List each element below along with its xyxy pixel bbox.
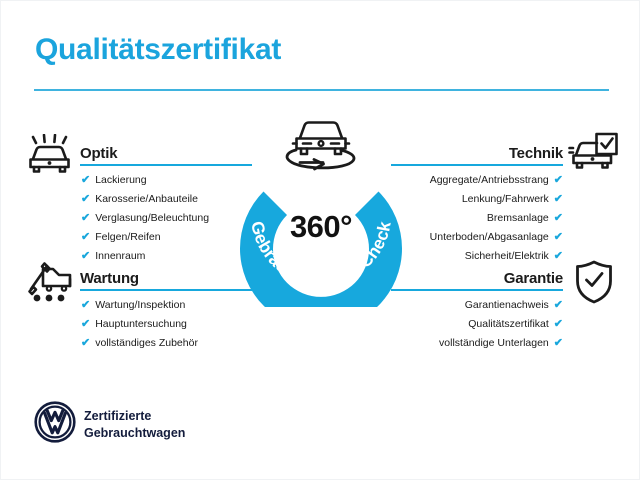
list-item: Lenkung/Fahrwerk ✔ [391, 194, 563, 205]
section-divider [80, 289, 252, 291]
list-item-label: Lenkung/Fahrwerk [462, 194, 549, 205]
volkswagen-logo [34, 401, 76, 443]
list-item-label: Innenraum [95, 251, 145, 262]
list-item-label: Aggregate/Antriebsstrang [430, 175, 549, 186]
check-icon: ✔ [81, 300, 90, 311]
section-head: Technik [391, 140, 563, 166]
checklist-optik: ✔ Lackierung ✔ Karosserie/Anbauteile ✔ V… [80, 175, 252, 262]
check-icon: ✔ [554, 319, 563, 330]
check-icon: ✔ [81, 213, 90, 224]
section-title-technik: Technik [509, 145, 563, 162]
checklist-garantie: Garantienachweis ✔ Qualitätszertifikat ✔… [391, 300, 563, 349]
section-head: Wartung [80, 265, 252, 291]
check-icon: ✔ [554, 194, 563, 205]
check-icon: ✔ [81, 338, 90, 349]
list-item-label: Unterboden/Abgasanlage [430, 232, 549, 243]
list-item: ✔ Wartung/Inspektion [81, 300, 252, 311]
gebrauchtwagen-check-badge: Gebrauchtwagen-Check 360° [229, 157, 413, 307]
title-divider [34, 89, 609, 91]
list-item: ✔ Felgen/Reifen [81, 232, 252, 243]
list-item: Aggregate/Antriebsstrang ✔ [391, 175, 563, 186]
check-icon: ✔ [81, 319, 90, 330]
list-item: ✔ vollständiges Zubehör [81, 338, 252, 349]
list-item: ✔ Lackierung [81, 175, 252, 186]
badge-center-label: 360° [229, 209, 413, 245]
check-icon: ✔ [81, 194, 90, 205]
section-head: Optik [80, 140, 252, 166]
page-title: Qualitätszertifikat [35, 33, 281, 67]
car-polish-icon [25, 134, 75, 181]
check-icon: ✔ [554, 232, 563, 243]
shield-check-icon [573, 259, 615, 310]
section-divider [391, 164, 563, 166]
section-title-wartung: Wartung [80, 270, 139, 287]
list-item: Qualitätszertifikat ✔ [391, 319, 563, 330]
section-head: Garantie [391, 265, 563, 291]
list-item-label: Karosserie/Anbauteile [95, 194, 198, 205]
car-rotate-icon [278, 114, 364, 176]
brand-line-2: Gebrauchtwagen [84, 425, 185, 442]
checklist-technik: Aggregate/Antriebsstrang ✔ Lenkung/Fahrw… [391, 175, 563, 262]
check-icon: ✔ [554, 213, 563, 224]
list-item: Garantienachweis ✔ [391, 300, 563, 311]
list-item: Sicherheit/Elektrik ✔ [391, 251, 563, 262]
brand-line-1: Zertifizierte [84, 408, 185, 425]
check-icon: ✔ [554, 338, 563, 349]
section-garantie: Garantie Garantienachweis ✔ Qualitätszer… [391, 265, 563, 357]
section-optik: Optik ✔ Lackierung ✔ Karosserie/Anbautei… [80, 140, 252, 270]
list-item: ✔ Innenraum [81, 251, 252, 262]
check-icon: ✔ [554, 300, 563, 311]
check-icon: ✔ [81, 175, 90, 186]
certificate-page: Qualitätszertifikat Optik [0, 0, 640, 480]
brand-text: Zertifizierte Gebrauchtwagen [84, 408, 185, 442]
list-item: ✔ Karosserie/Anbauteile [81, 194, 252, 205]
car-checkbox-icon [567, 131, 619, 180]
list-item-label: Felgen/Reifen [95, 232, 160, 243]
section-title-garantie: Garantie [504, 270, 563, 287]
section-divider [80, 164, 252, 166]
list-item: ✔ Hauptuntersuchung [81, 319, 252, 330]
check-icon: ✔ [554, 251, 563, 262]
section-title-optik: Optik [80, 145, 117, 162]
list-item-label: Bremsanlage [487, 213, 549, 224]
list-item-label: Sicherheit/Elektrik [465, 251, 549, 262]
list-item-label: Verglasung/Beleuchtung [95, 213, 209, 224]
checklist-wartung: ✔ Wartung/Inspektion ✔ Hauptuntersuchung… [80, 300, 252, 349]
list-item-label: vollständiges Zubehör [95, 338, 198, 349]
list-item: vollständige Unterlagen ✔ [391, 338, 563, 349]
list-item-label: Hauptuntersuchung [95, 319, 187, 330]
list-item-label: vollständige Unterlagen [439, 338, 549, 349]
section-technik: Technik Aggregate/Antriebsstrang ✔ Lenku… [391, 140, 563, 270]
car-service-tool-icon [25, 258, 75, 309]
list-item-label: Wartung/Inspektion [95, 300, 185, 311]
check-icon: ✔ [81, 232, 90, 243]
list-item-label: Qualitätszertifikat [468, 319, 549, 330]
section-divider [391, 289, 563, 291]
list-item: Unterboden/Abgasanlage ✔ [391, 232, 563, 243]
list-item-label: Garantienachweis [465, 300, 549, 311]
list-item-label: Lackierung [95, 175, 146, 186]
section-wartung: Wartung ✔ Wartung/Inspektion ✔ Hauptunte… [80, 265, 252, 357]
check-icon: ✔ [554, 175, 563, 186]
list-item: Bremsanlage ✔ [391, 213, 563, 224]
list-item: ✔ Verglasung/Beleuchtung [81, 213, 252, 224]
check-icon: ✔ [81, 251, 90, 262]
